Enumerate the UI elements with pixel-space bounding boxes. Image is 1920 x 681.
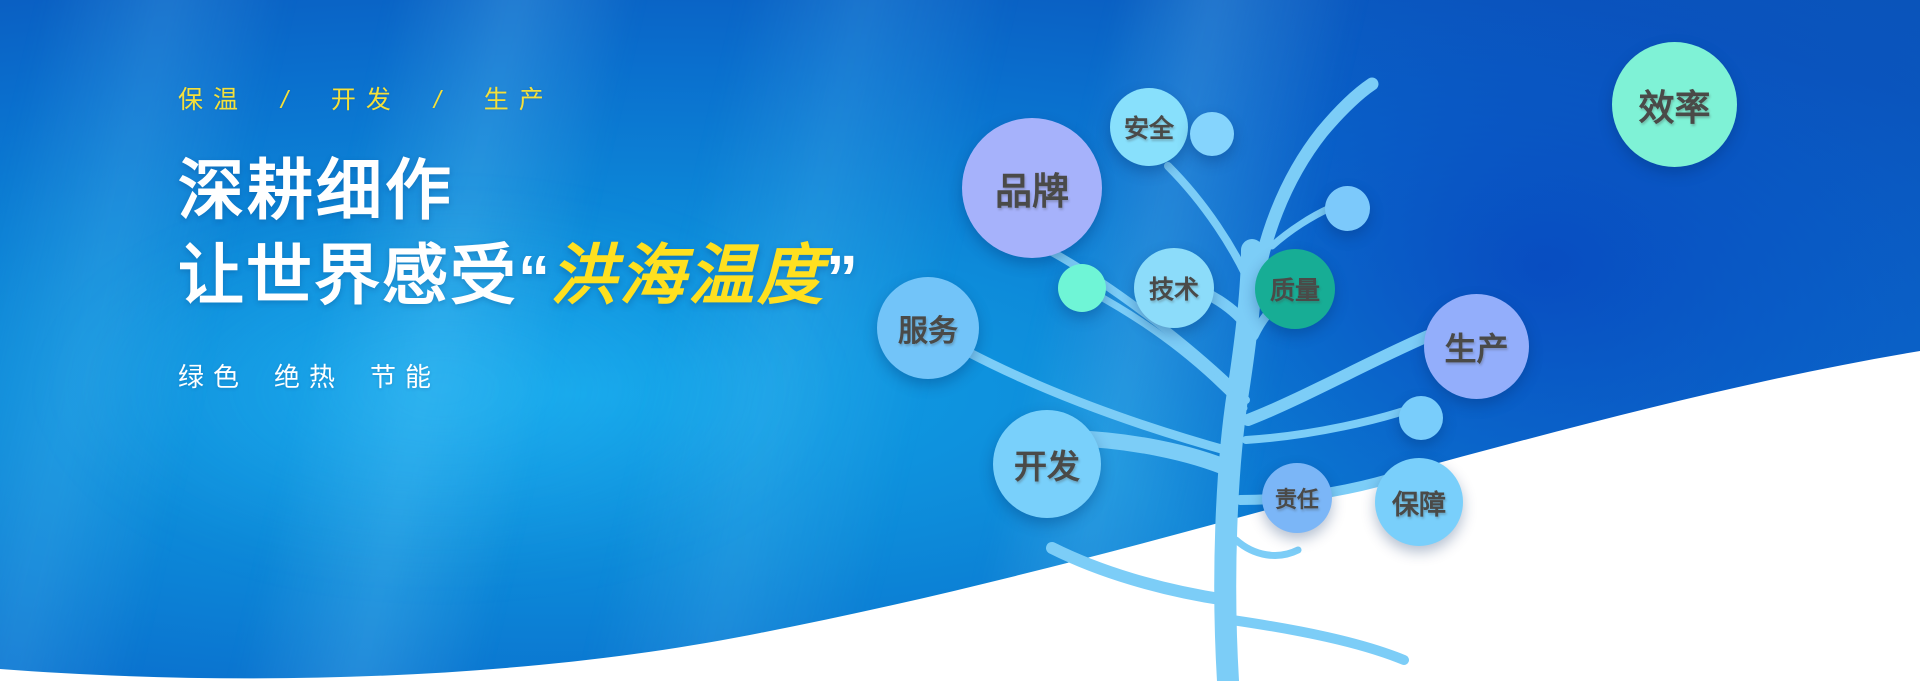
bubble-质量[interactable]: 质量 [1255,249,1335,329]
bubble-技术[interactable]: 技术 [1134,248,1214,328]
bubble-保障[interactable]: 保障 [1375,458,1463,546]
bubble-责任[interactable]: 责任 [1262,463,1332,533]
bubble-label: 技术 [1149,270,1199,306]
bubble-label: 质量 [1270,271,1320,307]
sub-tagline: 绿色绝热节能 [178,357,938,394]
headline-line-1: 深耕细作 [178,155,938,226]
bubble-生产[interactable]: 生产 [1424,294,1529,399]
eyebrow-item-2: 开发 [331,86,401,114]
headline-line-2: 让世界感受“洪海温度” [178,240,938,313]
bubble-品牌[interactable]: 品牌 [962,118,1102,258]
bubble-label: 生产 [1444,324,1508,370]
bubble-label: 保障 [1392,483,1446,522]
eyebrow-item-1: 保温 [178,86,248,114]
hero-banner: 效率安全品牌技术质量服务生产开发责任保障 保温 / 开发 / 生产 深耕细作 让… [0,0,1920,681]
bubble-label: 责任 [1275,482,1319,514]
bubble-dot-3[interactable] [1325,186,1370,231]
quote-close: ” [826,242,858,314]
subline-item-3: 节能 [370,362,440,392]
bubble-dot-2[interactable] [1190,112,1234,156]
bubble-效率[interactable]: 效率 [1612,42,1737,167]
bubble-label: 安全 [1124,109,1174,145]
bubble-dot-7[interactable] [1058,264,1106,312]
subline-item-2: 绝热 [274,362,344,392]
eyebrow-item-3: 生产 [484,86,554,114]
bubble-label: 开发 [1014,440,1080,488]
eyebrow-separator-2: / [418,88,467,113]
headline-accent: 洪海温度 [550,238,826,312]
bubble-label: 品牌 [995,161,1069,215]
bubble-开发[interactable]: 开发 [993,410,1101,518]
eyebrow-tagline: 保温 / 开发 / 生产 [178,88,938,113]
bubble-dot-10[interactable] [1399,396,1443,440]
bubble-label: 效率 [1638,79,1710,131]
quote-open: “ [518,242,550,314]
eyebrow-separator-1: / [265,88,314,113]
headline-prefix: 让世界感受 [178,238,518,312]
subline-item-1: 绿色 [178,362,248,392]
bubble-安全[interactable]: 安全 [1110,88,1188,166]
hero-text-column: 保温 / 开发 / 生产 深耕细作 让世界感受“洪海温度” 绿色绝热节能 [178,88,938,394]
